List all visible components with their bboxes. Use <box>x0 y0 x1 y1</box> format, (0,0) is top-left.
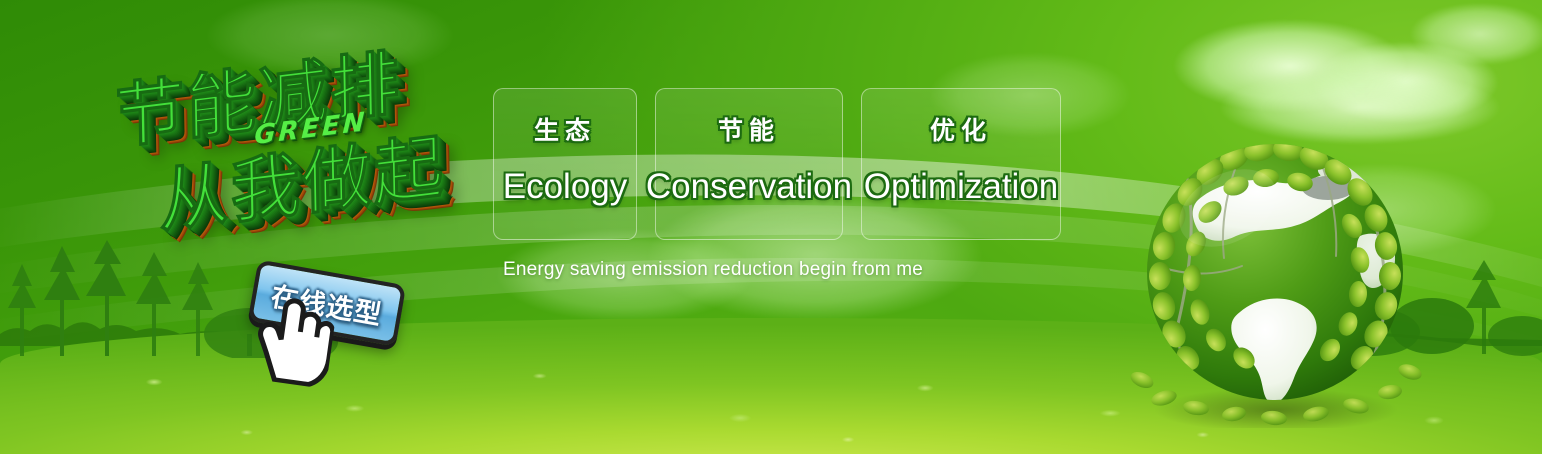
feature-card-ecology-cn: 生态 <box>534 111 596 147</box>
cta-area[interactable]: 在线选型 <box>252 272 427 362</box>
cloud-icon <box>1285 30 1525 135</box>
feature-card-conservation-en: Conservation <box>646 169 852 204</box>
feature-card-optimization[interactable]: 优化 Optimization <box>861 88 1061 240</box>
headline-accent-word: GREEN <box>254 107 368 151</box>
feature-cards: 生态 Ecology 节能 Conservation 优化 Optimizati… <box>493 88 1061 240</box>
online-selection-button-label: 在线选型 <box>268 274 385 332</box>
feature-card-conservation[interactable]: 节能 Conservation <box>655 88 843 240</box>
feature-card-optimization-en: Optimization <box>864 169 1059 204</box>
eco-hero-banner: 节能减排 GREEN 从我做起 在线选型 生态 Ecology 节能 Conse… <box>0 0 1542 454</box>
online-selection-button[interactable]: 在线选型 <box>248 259 406 346</box>
feature-card-optimization-cn: 优化 <box>930 111 992 147</box>
headline-line-2: 从我做起 <box>158 110 446 247</box>
feature-card-ecology[interactable]: 生态 Ecology <box>493 88 637 240</box>
banner-tagline: Energy saving emission reduction begin f… <box>503 259 923 281</box>
feature-card-conservation-cn: 节能 <box>718 111 780 147</box>
cloud-icon <box>1390 0 1542 74</box>
cloud-icon <box>1140 6 1440 126</box>
headline-line-1: 节能减排 <box>114 26 402 163</box>
cloud-icon <box>170 0 490 90</box>
feature-card-ecology-en: Ecology <box>503 169 628 204</box>
leafy-earth-globe-icon <box>1124 126 1426 428</box>
